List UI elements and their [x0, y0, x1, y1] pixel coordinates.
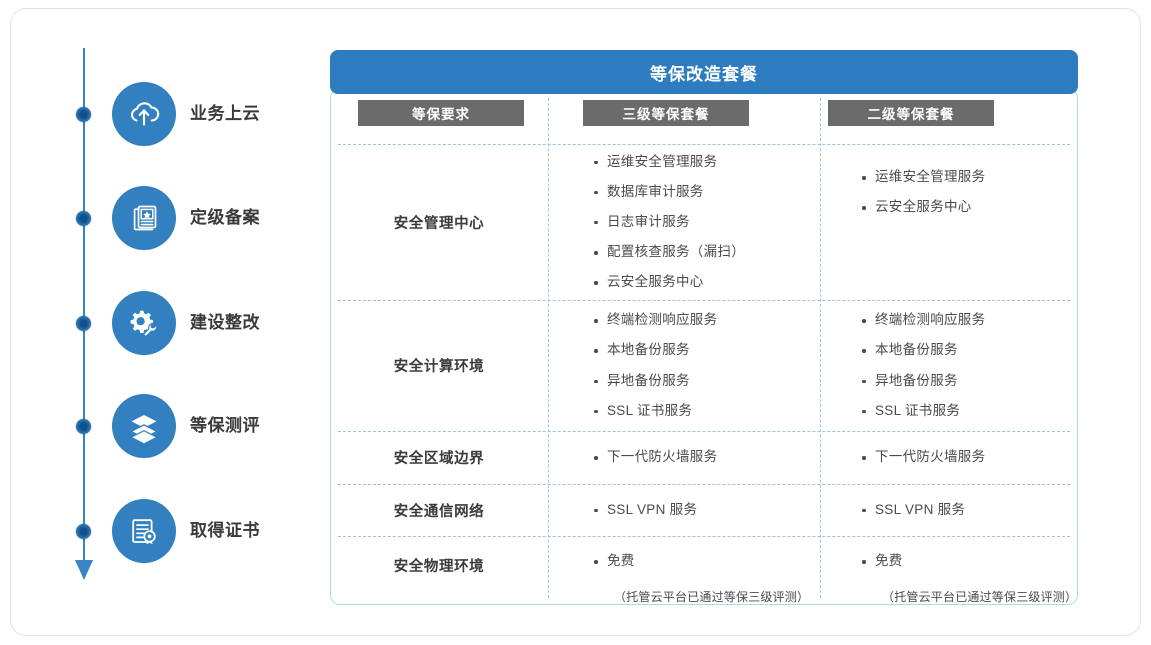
timeline-dot — [76, 419, 91, 434]
timeline-dot — [76, 316, 91, 331]
cell-requirement: 安全物理环境 — [330, 536, 548, 594]
list-item: 运维安全管理服务 — [860, 170, 1078, 184]
list-item: 下一代防火墙服务 — [860, 450, 1078, 464]
column-header-level3: 三级等保套餐 — [583, 100, 749, 126]
cell-requirement: 安全区域边界 — [330, 431, 548, 484]
cell-requirement: 安全通信网络 — [330, 484, 548, 536]
list-item: 配置核查服务（漏扫） — [592, 245, 820, 259]
cell-level3-services: 终端检测响应服务 本地备份服务 异地备份服务 SSL 证书服务 — [548, 300, 820, 431]
timeline-step-label: 建设整改 — [190, 291, 260, 355]
timeline-dot — [76, 211, 91, 226]
timeline-step-label: 业务上云 — [190, 82, 260, 146]
list-item: 免费 — [860, 554, 1078, 568]
list-item: 本地备份服务 — [860, 343, 1078, 357]
cell-level2-services: 终端检测响应服务 本地备份服务 异地备份服务 SSL 证书服务 — [820, 300, 1078, 431]
cell-level2-services: 免费 （托管云平台已通过等保三级评测） — [820, 536, 1078, 602]
timeline-dot — [76, 524, 91, 539]
cell-level3-services: SSL VPN 服务 — [548, 484, 820, 536]
list-item: 数据库审计服务 — [592, 185, 820, 199]
list-item: SSL VPN 服务 — [860, 503, 1078, 517]
package-comparison-table: 等保改造套餐 等保要求 三级等保套餐 二级等保套餐 安全管理中心 运维安全管理服… — [330, 50, 1078, 605]
timeline-step-1[interactable]: 业务上云 — [62, 82, 322, 146]
cell-level3-services: 下一代防火墙服务 — [548, 431, 820, 484]
list-item: SSL VPN 服务 — [592, 503, 820, 517]
list-item: 日志审计服务 — [592, 215, 820, 229]
table-row: 安全区域边界 下一代防火墙服务 下一代防火墙服务 — [330, 431, 1078, 484]
timeline-step-label: 取得证书 — [190, 499, 260, 563]
list-item: 异地备份服务 — [860, 374, 1078, 388]
layers-stack-icon — [112, 394, 176, 458]
cell-level3-services: 运维安全管理服务 数据库审计服务 日志审计服务 配置核查服务（漏扫） 云安全服务… — [548, 144, 820, 300]
list-item: 终端检测响应服务 — [592, 313, 820, 327]
column-header-requirement: 等保要求 — [358, 100, 524, 126]
gear-wrench-icon — [112, 291, 176, 355]
table-row: 安全计算环境 终端检测响应服务 本地备份服务 异地备份服务 SSL 证书服务 终… — [330, 300, 1078, 431]
list-item: 异地备份服务 — [592, 374, 820, 388]
table-column-headers: 等保要求 三级等保套餐 二级等保套餐 — [330, 100, 1078, 132]
list-item: 免费 — [592, 554, 820, 568]
cloud-upload-icon — [112, 82, 176, 146]
column-header-level2: 二级等保套餐 — [828, 100, 994, 126]
cell-level2-services: 运维安全管理服务 云安全服务中心 — [820, 144, 1078, 300]
list-item-note: （托管云平台已通过等保三级评测） — [592, 588, 820, 605]
list-item: 本地备份服务 — [592, 343, 820, 357]
document-star-icon — [112, 186, 176, 250]
timeline-step-5[interactable]: 取得证书 — [62, 499, 322, 563]
list-item: 下一代防火墙服务 — [592, 450, 820, 464]
timeline-step-2[interactable]: 定级备案 — [62, 186, 322, 250]
down-arrow-icon — [75, 560, 93, 580]
diagram-canvas: 业务上云 定级备案 — [0, 0, 1151, 645]
timeline-step-3[interactable]: 建设整改 — [62, 291, 322, 355]
list-item: 云安全服务中心 — [860, 200, 1078, 214]
cell-level2-services: 下一代防火墙服务 — [820, 431, 1078, 484]
cell-requirement: 安全管理中心 — [330, 144, 548, 300]
cell-level3-services: 免费 （托管云平台已通过等保三级评测） — [548, 536, 820, 602]
cell-level2-services: SSL VPN 服务 — [820, 484, 1078, 536]
timeline-dot — [76, 107, 91, 122]
timeline-step-4[interactable]: 等保测评 — [62, 394, 322, 458]
table-row: 安全通信网络 SSL VPN 服务 SSL VPN 服务 — [330, 484, 1078, 536]
cell-requirement: 安全计算环境 — [330, 300, 548, 431]
table-title: 等保改造套餐 — [330, 50, 1078, 94]
list-item: 运维安全管理服务 — [592, 155, 820, 169]
list-item: SSL 证书服务 — [860, 404, 1078, 418]
timeline-step-label: 等保测评 — [190, 394, 260, 458]
list-item: SSL 证书服务 — [592, 404, 820, 418]
list-item-note: （托管云平台已通过等保三级评测） — [860, 588, 1078, 605]
table-row: 安全物理环境 免费 （托管云平台已通过等保三级评测） 免费 （托管云平台已通过等… — [330, 536, 1078, 602]
process-timeline: 业务上云 定级备案 — [62, 48, 322, 610]
certificate-seal-icon — [112, 499, 176, 563]
timeline-step-label: 定级备案 — [190, 186, 260, 250]
table-row: 安全管理中心 运维安全管理服务 数据库审计服务 日志审计服务 配置核查服务（漏扫… — [330, 144, 1078, 300]
list-item: 终端检测响应服务 — [860, 313, 1078, 327]
list-item: 云安全服务中心 — [592, 275, 820, 289]
